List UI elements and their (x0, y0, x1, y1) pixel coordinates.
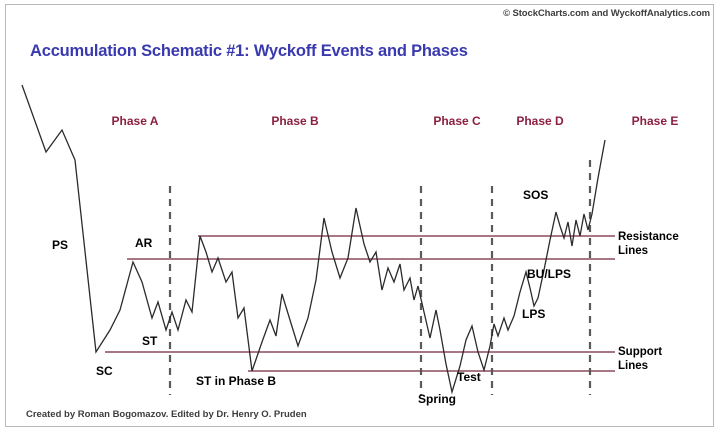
event-label-sc: SC (96, 364, 113, 378)
page-title: Accumulation Schematic #1: Wyckoff Event… (30, 42, 468, 61)
copyright-notice: © StockCharts.com and WyckoffAnalytics.c… (503, 8, 710, 19)
event-label-st: ST (142, 334, 157, 348)
support-lines-line2: Lines (618, 359, 662, 373)
phase-label-d: Phase D (516, 114, 563, 128)
credit-line: Created by Roman Bogomazov. Edited by Dr… (26, 409, 307, 420)
event-label-sos: SOS (523, 188, 548, 202)
phase-label-e: Phase E (632, 114, 679, 128)
phase-label-c: Phase C (433, 114, 480, 128)
event-label-ps: PS (52, 238, 68, 252)
resistance-lines: ResistanceLines (618, 230, 679, 258)
event-label-ar: AR (135, 236, 152, 250)
phase-label-a: Phase A (112, 114, 159, 128)
resistance-lines-line2: Lines (618, 244, 679, 258)
price-polyline-price (22, 85, 605, 392)
support-lines-line1: Support (618, 345, 662, 359)
event-label-test: Test (457, 370, 481, 384)
phase-label-b: Phase B (271, 114, 318, 128)
event-label-lps: LPS (522, 307, 545, 321)
event-label-stb: ST in Phase B (196, 374, 276, 388)
support-resistance-lines (105, 236, 615, 371)
resistance-lines-line1: Resistance (618, 230, 679, 244)
support-lines: SupportLines (618, 345, 662, 373)
event-label-spring: Spring (418, 392, 456, 406)
event-label-bulps: BU/LPS (527, 267, 571, 281)
price-line (22, 85, 605, 392)
schematic-page: © StockCharts.com and WyckoffAnalytics.c… (0, 0, 720, 432)
